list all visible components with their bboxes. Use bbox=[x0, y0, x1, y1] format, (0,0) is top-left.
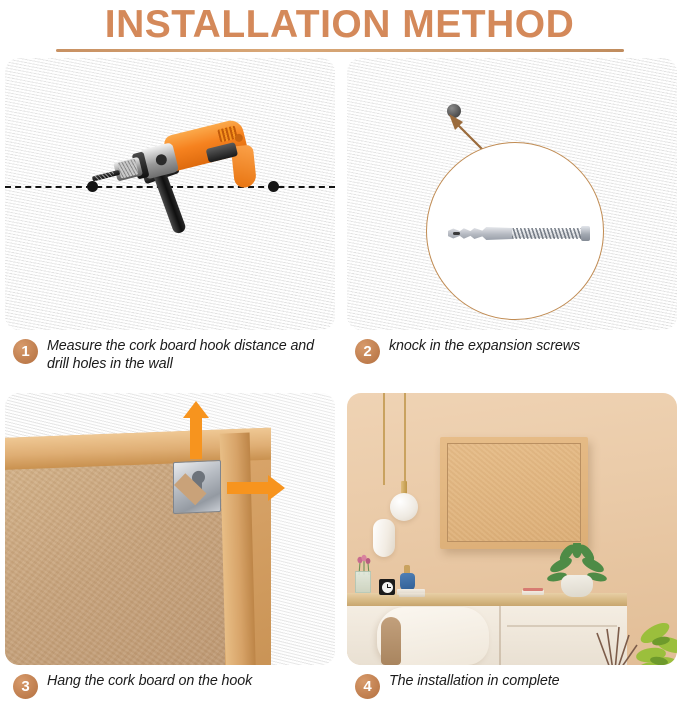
rolled-chair-tab bbox=[381, 617, 401, 665]
step-1-badge: 1 bbox=[13, 339, 38, 364]
tulip-vase bbox=[355, 571, 371, 593]
step-4-cell: 4 The installation in complete bbox=[347, 393, 677, 699]
small-book-red-cover bbox=[523, 588, 543, 591]
floor-plant-icon bbox=[593, 611, 677, 665]
electric-drill-icon bbox=[84, 104, 282, 258]
page-title: INSTALLATION METHOD bbox=[0, 4, 679, 46]
stacked-books-lower bbox=[399, 593, 425, 597]
drill-bit-flute bbox=[94, 171, 115, 181]
steps-grid: 1 Measure the cork board hook distance a… bbox=[0, 58, 679, 702]
pendant-light-globe bbox=[390, 493, 418, 521]
expansion-screw-assembly bbox=[448, 223, 594, 243]
step-4-illustration bbox=[347, 393, 677, 665]
pendant-cord-left bbox=[383, 393, 385, 485]
step-2-illustration bbox=[347, 58, 677, 330]
step-2-cell: 2 knock in the expansion screws bbox=[347, 58, 677, 364]
step-3-badge: 3 bbox=[13, 674, 38, 699]
step-3-illustration bbox=[5, 393, 335, 665]
step-2-caption-row: 2 knock in the expansion screws bbox=[347, 338, 677, 364]
small-book-stack bbox=[522, 590, 544, 595]
step-2-badge: 2 bbox=[355, 339, 380, 364]
pendant-light-cylinder bbox=[373, 519, 395, 557]
arrow-up-icon bbox=[183, 401, 209, 459]
screw-head bbox=[581, 226, 590, 241]
arrow-right-icon bbox=[227, 475, 285, 501]
clock-hand-hour bbox=[387, 587, 391, 588]
screw-threads bbox=[512, 228, 584, 239]
drill-side-handle bbox=[153, 170, 187, 235]
plant-pot bbox=[561, 575, 593, 597]
step-3-caption-row: 3 Hang the cork board on the hook bbox=[5, 673, 335, 699]
mounted-cork-board bbox=[440, 437, 588, 549]
mounted-cork-surface bbox=[447, 443, 581, 542]
title-underline-rule bbox=[56, 49, 624, 52]
step-3-cell: 3 Hang the cork board on the hook bbox=[5, 393, 335, 699]
step-4-caption-row: 4 The installation in complete bbox=[347, 673, 677, 699]
desk-clock bbox=[379, 579, 395, 595]
step-1-caption: Measure the cork board hook distance and… bbox=[47, 338, 335, 373]
step-1-cell: 1 Measure the cork board hook distance a… bbox=[5, 58, 335, 373]
step-4-caption: The installation in complete bbox=[389, 673, 559, 691]
step-4-badge: 4 bbox=[355, 674, 380, 699]
metal-hook-bracket bbox=[173, 460, 221, 514]
pendant-cord-right bbox=[404, 393, 406, 481]
console-door-seam bbox=[499, 606, 501, 665]
step-1-caption-row: 1 Measure the cork board hook distance a… bbox=[5, 338, 335, 373]
step-1-illustration bbox=[5, 58, 335, 330]
anchor-tip-hole bbox=[453, 232, 460, 235]
page-header: INSTALLATION METHOD bbox=[0, 0, 679, 52]
step-2-caption: knock in the expansion screws bbox=[389, 338, 580, 356]
step-3-caption: Hang the cork board on the hook bbox=[47, 673, 252, 691]
